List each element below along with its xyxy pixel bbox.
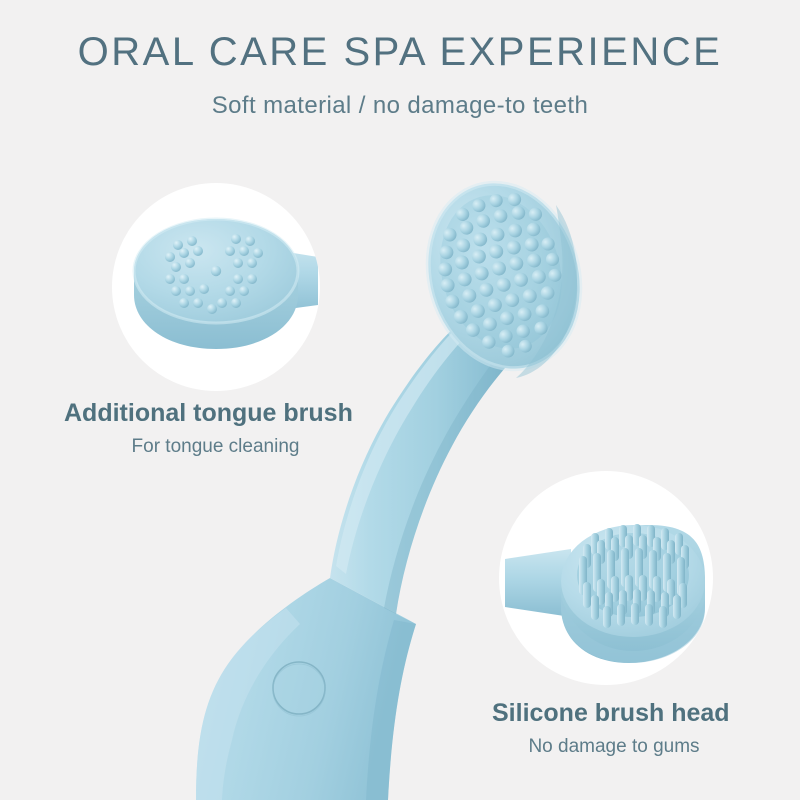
callout-tongue-title: Additional tongue brush (64, 400, 367, 428)
tongue-brush-illustration (112, 183, 320, 391)
power-button[interactable] (273, 662, 325, 716)
callout-silicone-brush-head: Silicone brush head No damage to gums (492, 700, 736, 757)
bristle-dots (420, 182, 581, 370)
callout-silicone-title: Silicone brush head (492, 700, 736, 728)
inset-circle-silicone-brush-head (499, 471, 713, 685)
callout-tongue-subtitle: For tongue cleaning (64, 437, 367, 458)
page-title: ORAL CARE SPA EXPERIENCE (0, 30, 800, 75)
silicone-brush-head-illustration (499, 471, 713, 685)
page-subtitle: Soft material / no damage-to teeth (0, 92, 800, 120)
callout-silicone-subtitle: No damage to gums (492, 737, 736, 758)
product-poster: ORAL CARE SPA EXPERIENCE Soft material /… (0, 0, 800, 800)
callout-tongue-brush: Additional tongue brush For tongue clean… (64, 400, 367, 457)
inset-circle-tongue-brush (112, 183, 320, 391)
neck (330, 320, 512, 624)
brush-head (407, 165, 601, 387)
handle (196, 578, 416, 800)
